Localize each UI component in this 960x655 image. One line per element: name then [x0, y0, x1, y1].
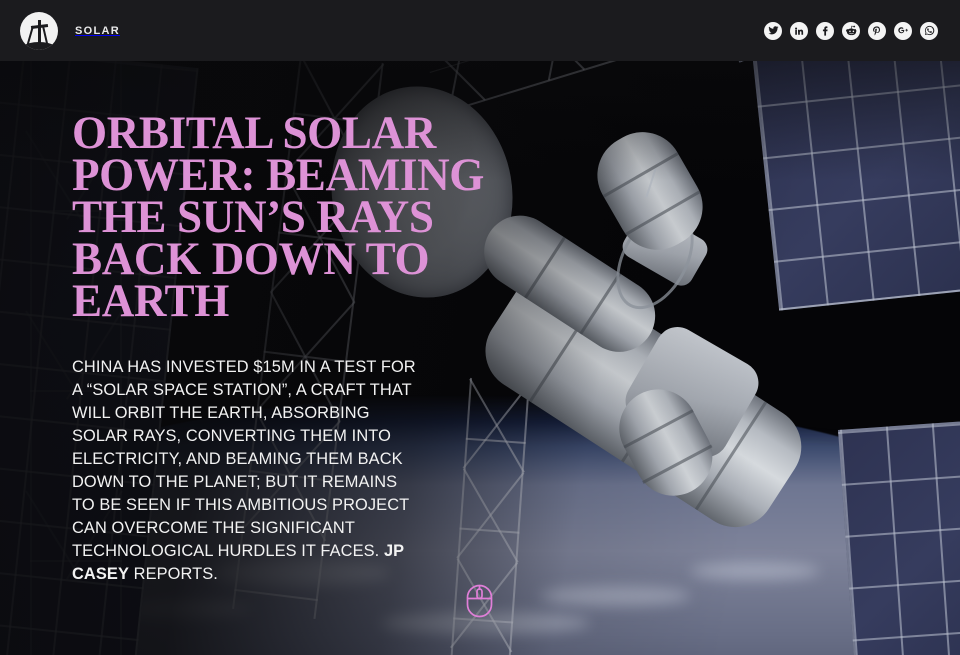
- mouse-cursor-icon: [466, 584, 493, 618]
- brand-name: SOLAR: [75, 25, 120, 37]
- googleplus-icon[interactable]: [894, 22, 912, 40]
- reddit-icon[interactable]: [842, 22, 860, 40]
- standfirst-text-after: reports.: [129, 565, 218, 583]
- pinterest-icon[interactable]: [868, 22, 886, 40]
- hero-content: Orbital solar power: beaming the sun’s r…: [72, 112, 502, 586]
- page-root: SOLAR Orb: [0, 0, 960, 655]
- standfirst: China has invested $15m in a test for a …: [72, 356, 417, 586]
- solar-tower-logo-icon: [20, 12, 58, 50]
- brand-link[interactable]: SOLAR: [0, 12, 120, 50]
- whatsapp-icon[interactable]: [920, 22, 938, 40]
- standfirst-text-before: China has invested $15m in a test for a …: [72, 358, 416, 560]
- twitter-icon[interactable]: [764, 22, 782, 40]
- page-title: Orbital solar power: beaming the sun’s r…: [72, 112, 485, 322]
- facebook-icon[interactable]: [816, 22, 834, 40]
- linkedin-icon[interactable]: [790, 22, 808, 40]
- social-share-bar: [764, 22, 960, 40]
- site-header: SOLAR: [0, 0, 960, 61]
